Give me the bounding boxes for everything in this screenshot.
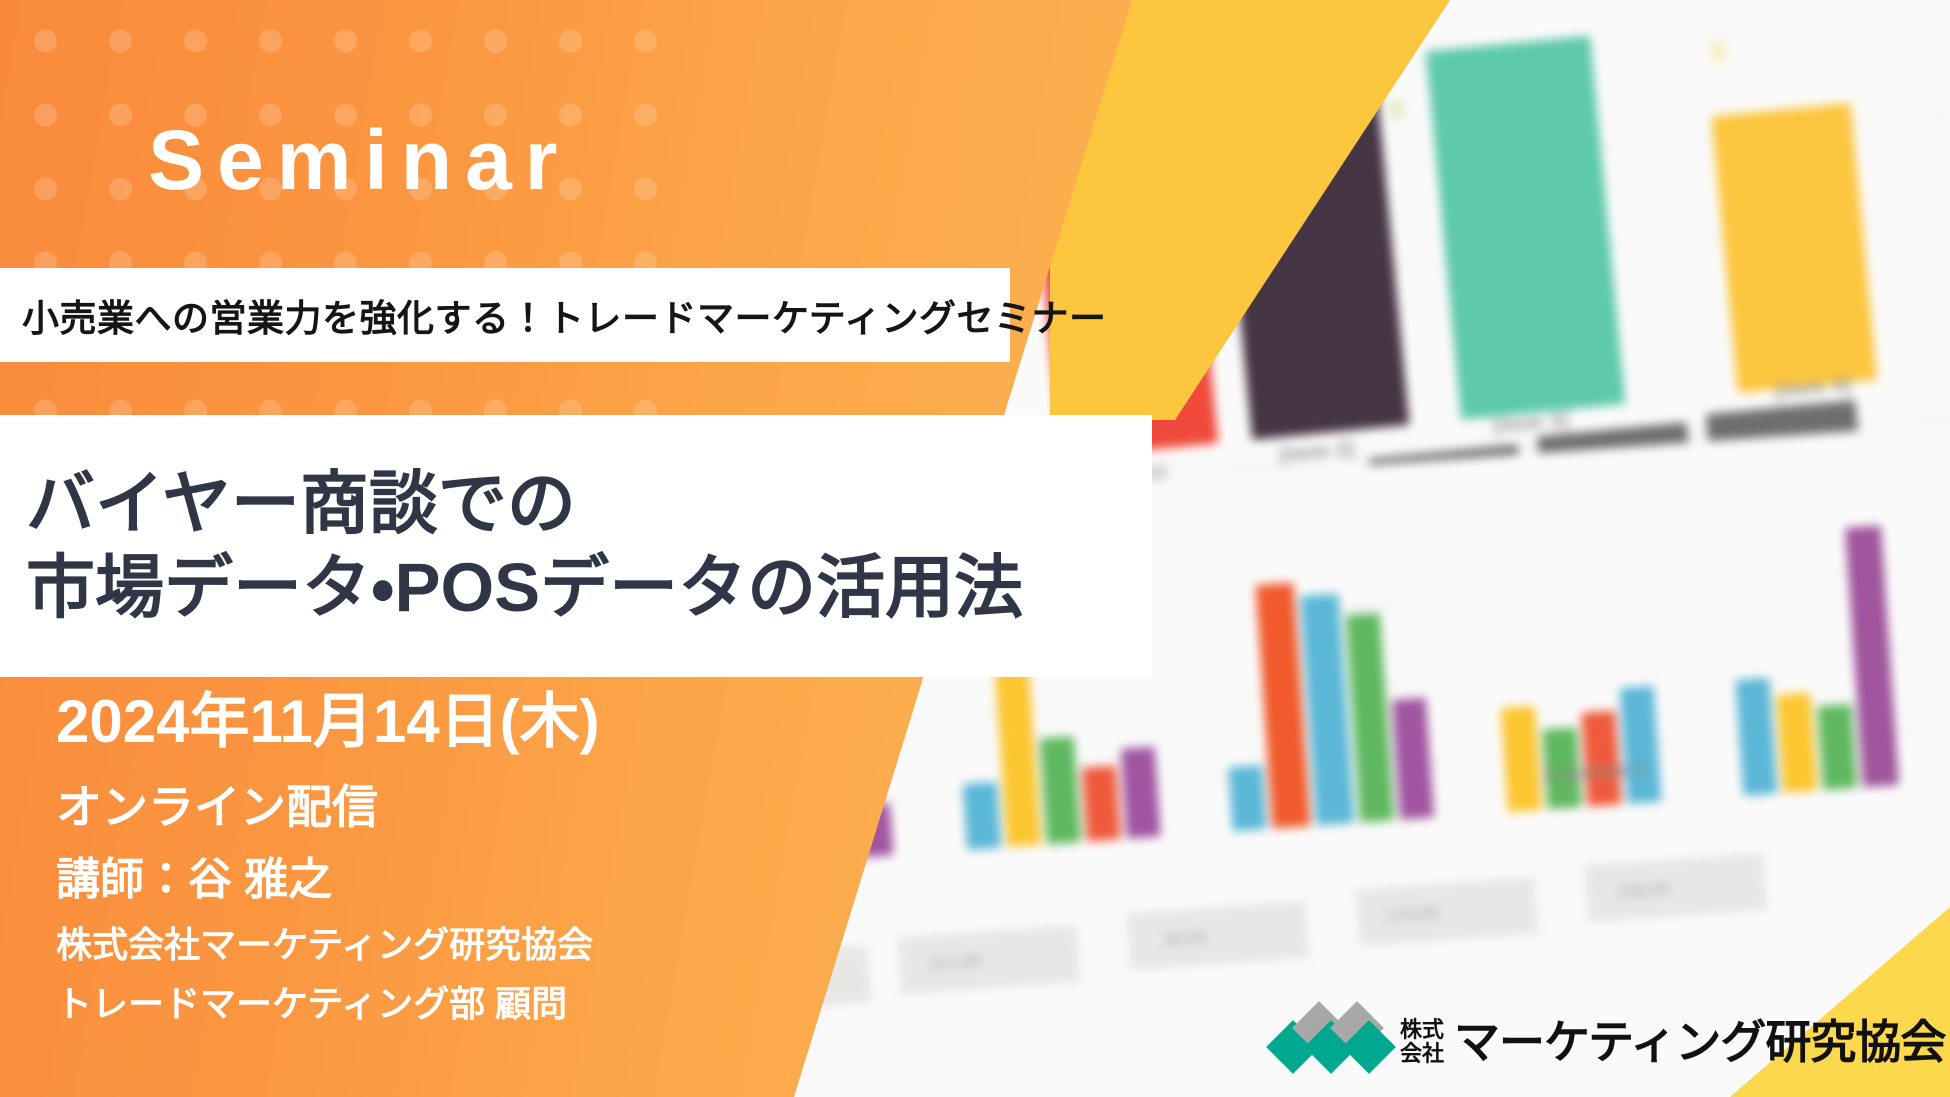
lecturer-department: トレードマーケティング部 顧問 <box>56 984 600 1024</box>
logo-kabushiki: 株式 <box>1400 1018 1444 1042</box>
seminar-banner: [Item 1] [Item 2] [Item 3] [Item 4] <box>0 0 1950 1097</box>
lecturer-company: 株式会社マーケティング研究協会 <box>56 925 600 965</box>
seminar-subtitle: 小売業への営業力を強化する！トレードマーケティングセミナー <box>22 288 1107 342</box>
title-band: バイヤー商談での 市場データ・POSデータの活用法 <box>0 415 1152 677</box>
event-date: 2024年11月14日(木) <box>56 690 600 753</box>
event-format: オンライン配信 <box>56 783 600 831</box>
diamond-logo-icon <box>1272 1014 1390 1070</box>
logo-kaisha: 会社 <box>1400 1042 1444 1066</box>
logo-corporate-prefix: 株式 会社 <box>1400 1018 1444 1066</box>
event-details: 2024年11月14日(木) オンライン配信 講師：谷 雅之 株式会社マーケティ… <box>56 690 600 1024</box>
event-lecturer: 講師：谷 雅之 <box>56 857 600 903</box>
seminar-eyebrow-label: Seminar <box>148 118 571 202</box>
seminar-title-line-2: 市場データ・POSデータの活用法 <box>26 546 1023 630</box>
subtitle-band: 小売業への営業力を強化する！トレードマーケティングセミナー <box>0 268 1010 362</box>
corporate-logo: 株式 会社 マーケティング研究協会 <box>1272 1014 1945 1070</box>
seminar-title-line-1: バイヤー商談での <box>26 462 576 546</box>
logo-company-name: マーケティング研究協会 <box>1454 1019 1945 1065</box>
